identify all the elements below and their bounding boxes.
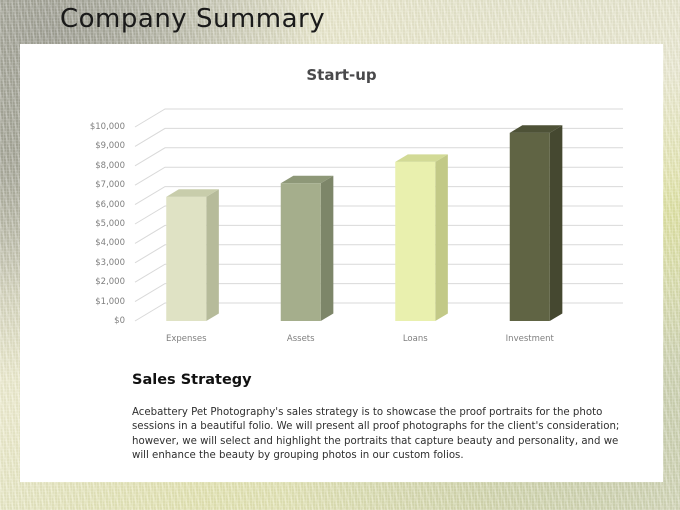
content-panel: Start-up $0$1,000$2,000$3,000$4,000$5,00… [20,44,663,482]
chart-title: Start-up [20,66,663,84]
chart-y-tick-label: $4,000 [63,239,125,248]
chart-bar [395,154,448,321]
page-title: Company Summary [60,4,325,34]
chart-x-tick-label: Expenses [141,335,231,344]
sales-strategy-section: Sales Strategy Acebattery Pet Photograph… [132,372,622,464]
section-heading: Sales Strategy [132,372,622,388]
chart-y-tick-label: $10,000 [63,123,125,132]
chart-y-tick-label: $8,000 [63,162,125,171]
section-body-text: Acebattery Pet Photography's sales strat… [132,406,622,464]
chart-bar [510,125,563,321]
chart-x-tick-label: Loans [370,335,460,344]
chart-y-tick-label: $7,000 [63,181,125,190]
chart-y-tick-label: $3,000 [63,259,125,268]
chart-y-tick-label: $2,000 [63,278,125,287]
chart-x-tick-label: Investment [485,335,575,344]
chart-gridline [135,109,623,127]
chart-y-tick-label: $1,000 [63,298,125,307]
chart-bar [166,189,219,321]
chart-y-tick-label: $6,000 [63,201,125,210]
chart-bar [281,176,334,321]
chart-y-tick-label: $5,000 [63,220,125,229]
chart-y-tick-label: $9,000 [63,142,125,151]
chart-x-tick-label: Assets [256,335,346,344]
chart-y-tick-label: $0 [63,317,125,326]
startup-bar-chart: $0$1,000$2,000$3,000$4,000$5,000$6,000$7… [20,94,663,344]
